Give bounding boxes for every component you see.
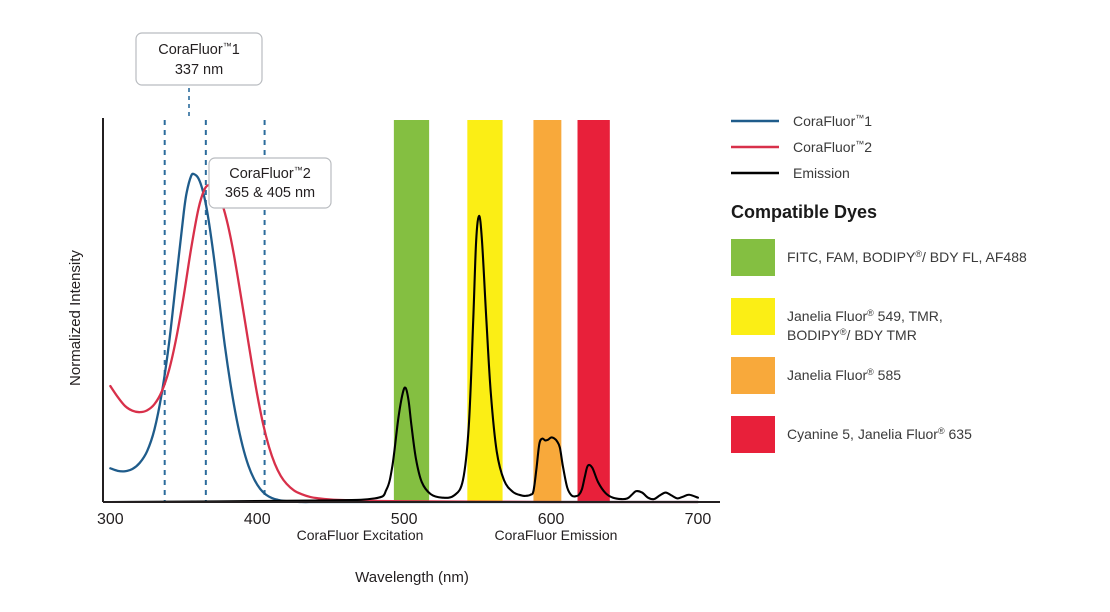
red-band <box>578 120 610 502</box>
fluorescence-spectra-figure: 300400500600700 CoraFluor Excitation Cor… <box>0 0 1110 612</box>
dye-swatch <box>731 357 775 394</box>
dye-label-line: FITC, FAM, BODIPY®/ BDY FL, AF488 <box>787 249 1027 265</box>
orange-band <box>533 120 561 502</box>
x-tick-label-600: 600 <box>538 511 565 528</box>
dye-swatch <box>731 298 775 335</box>
dye-label-line: Cyanine 5, Janelia Fluor® 635 <box>787 426 972 442</box>
region-label-emission: CoraFluor Emission <box>495 527 618 543</box>
dye-swatch <box>731 239 775 276</box>
y-axis-title: Normalized Intensity <box>67 250 84 386</box>
callout-cora2-line2: 365 & 405 nm <box>225 185 315 201</box>
x-tick-label-300: 300 <box>97 511 124 528</box>
callout-cora2: CoraFluor™2 365 & 405 nm <box>209 158 331 208</box>
dye-label-line: BODIPY®/ BDY TMR <box>787 327 917 343</box>
region-label-excitation: CoraFluor Excitation <box>297 527 424 543</box>
x-axis-title: Wavelength (nm) <box>355 569 469 586</box>
dye-swatch <box>731 416 775 453</box>
x-tick-label-500: 500 <box>391 511 418 528</box>
x-tick-label-400: 400 <box>244 511 271 528</box>
dye-label-line: Janelia Fluor® 585 <box>787 367 901 383</box>
callout-cora1-line2: 337 nm <box>175 62 223 78</box>
legend-item-label: Emission <box>793 165 850 181</box>
dyes-panel-heading: Compatible Dyes <box>731 202 877 222</box>
green-band <box>394 120 429 502</box>
x-tick-label-700: 700 <box>685 511 712 528</box>
dye-label-line: Janelia Fluor® 549, TMR, <box>787 308 943 324</box>
